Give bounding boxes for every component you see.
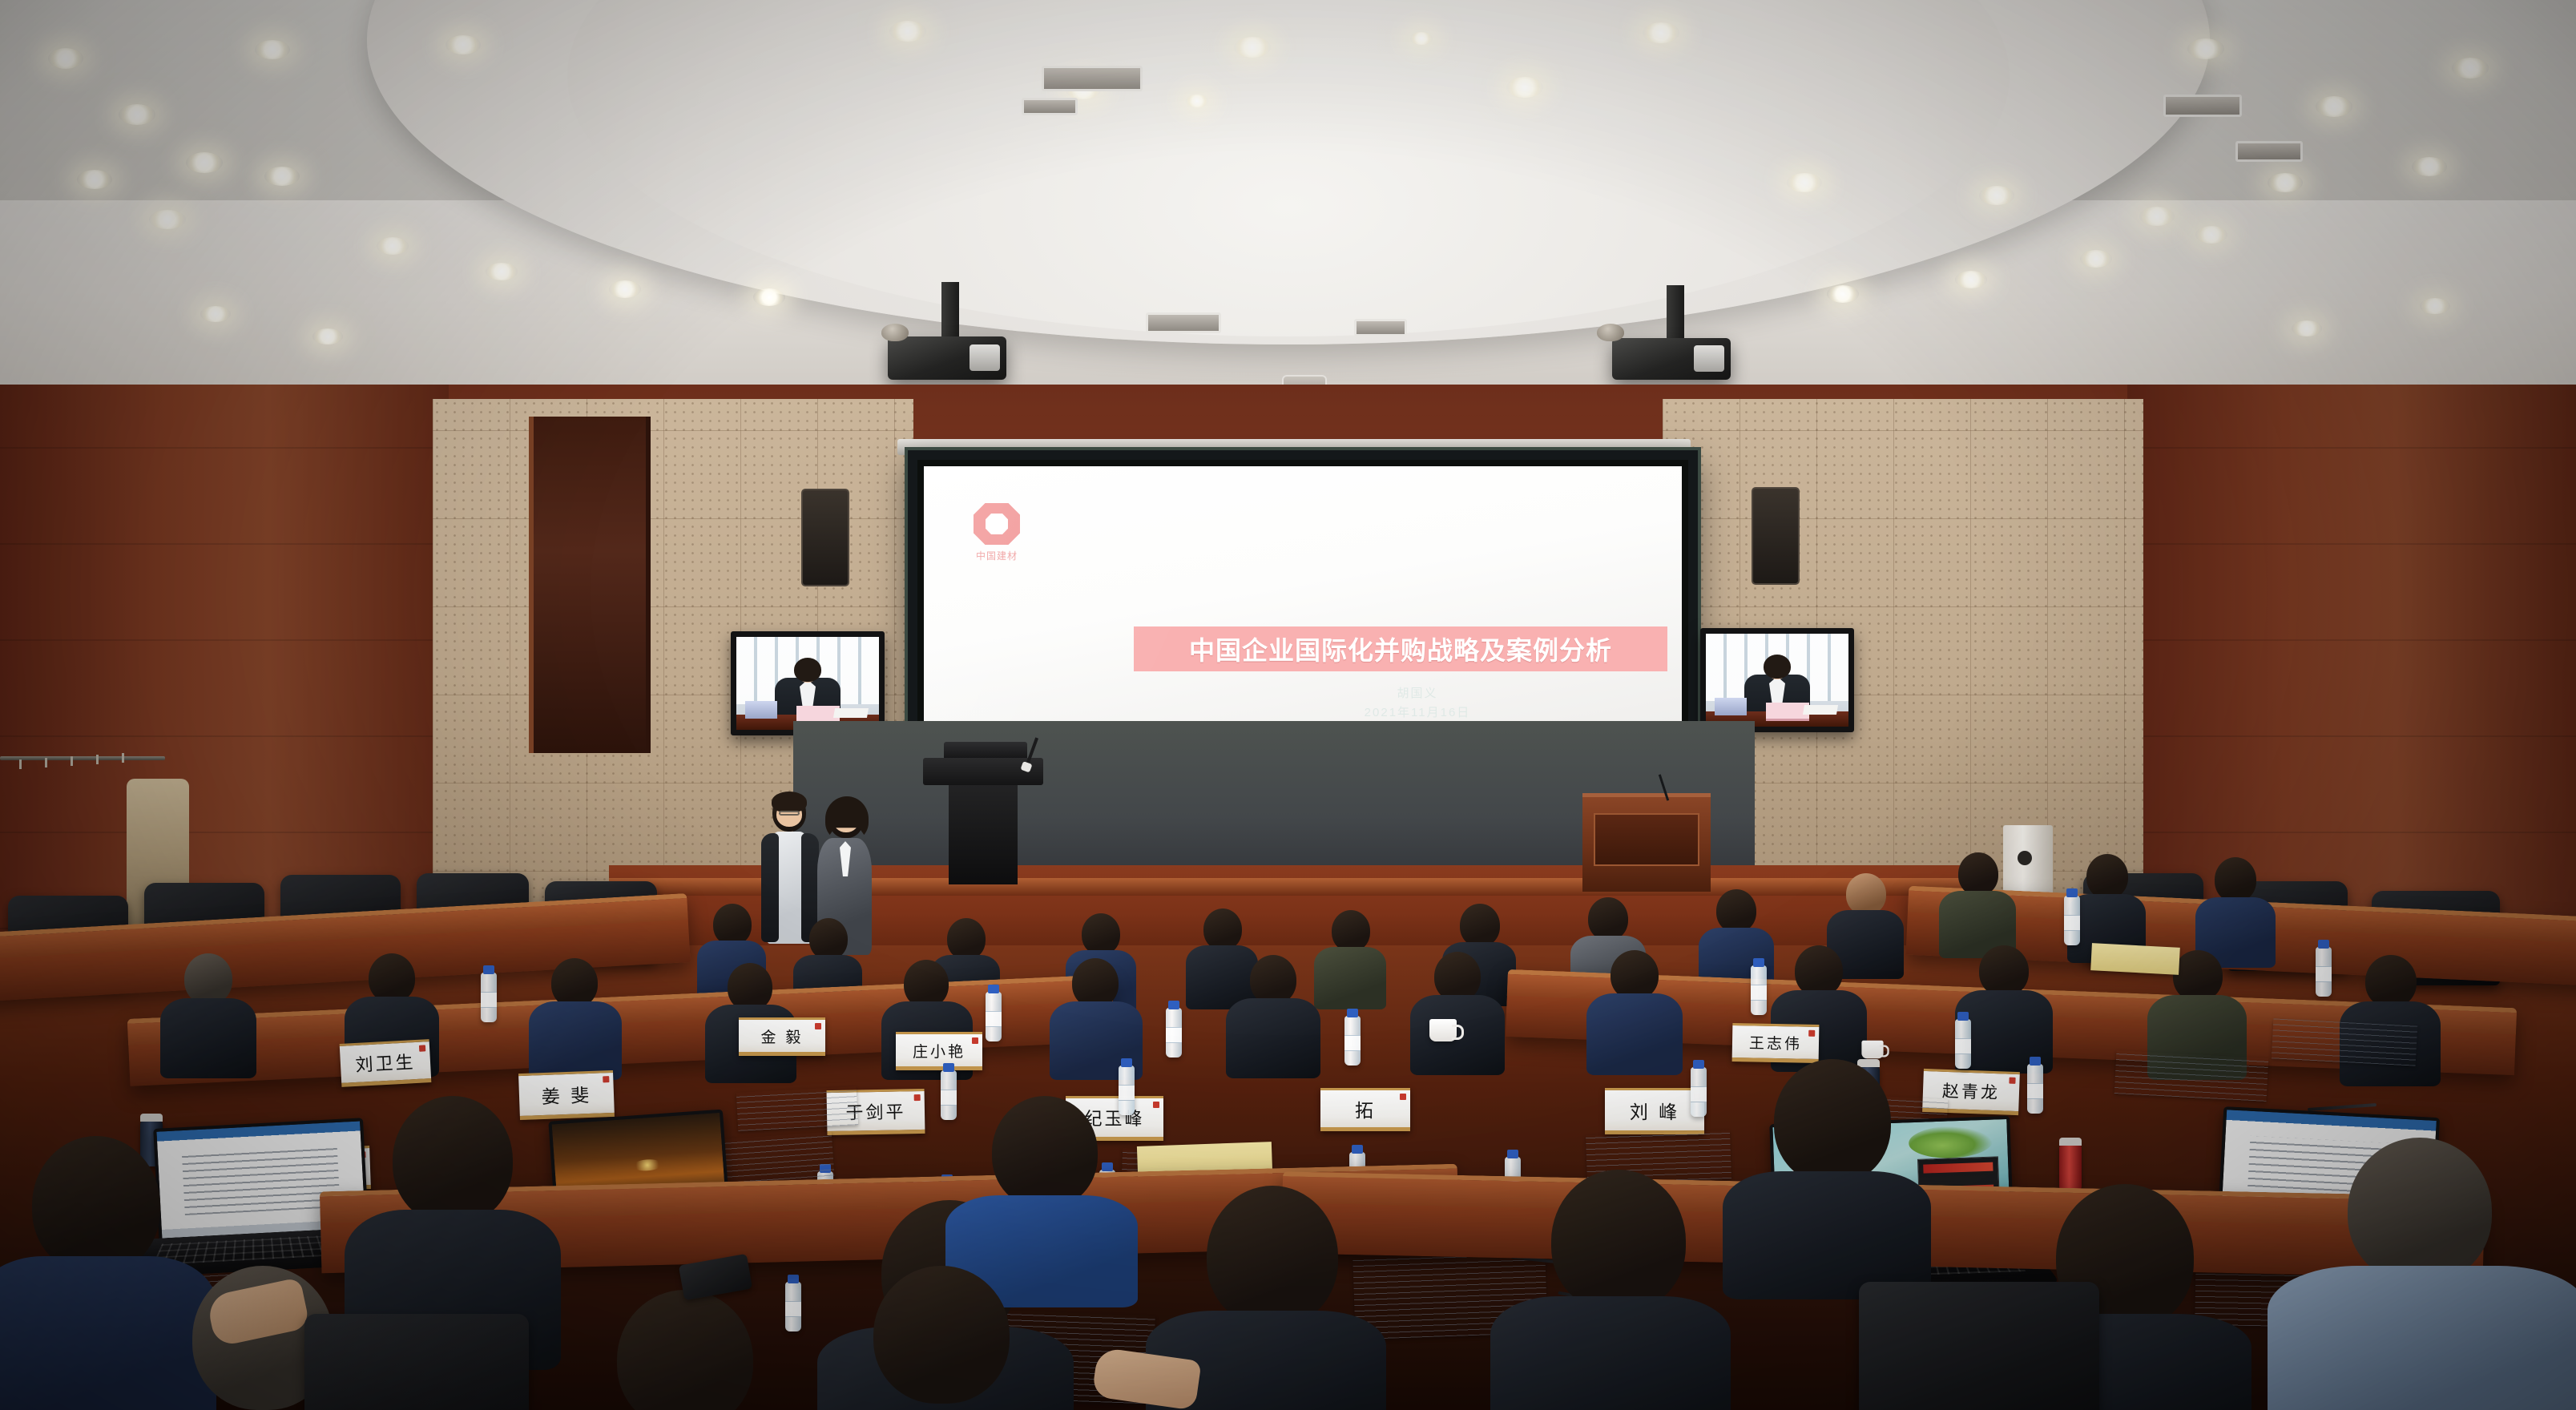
placard-text: 刘 峰 <box>1630 1097 1679 1124</box>
foreground-chair-back[interactable] <box>304 1314 529 1410</box>
person-head <box>1072 958 1119 1008</box>
left-side-monitor <box>731 631 885 735</box>
bottle-label <box>2027 1083 2043 1100</box>
bottle-label <box>1166 1027 1182 1044</box>
attendee <box>1410 952 1505 1072</box>
coat-hook-icon <box>45 758 47 767</box>
person-head <box>1082 913 1120 955</box>
projector-lens-icon <box>970 344 1000 371</box>
placard-seal-icon <box>2009 1078 2015 1084</box>
slide-title-band: 中国企业国际化并购战略及案例分析 <box>1134 626 1667 671</box>
downlight <box>377 237 409 255</box>
projector-right <box>1612 338 1731 380</box>
downlight <box>264 167 300 186</box>
person-head <box>2173 950 2223 1001</box>
person-head <box>873 1266 1010 1404</box>
air-vent <box>1022 98 1078 115</box>
bottle-label <box>481 992 497 1009</box>
person-head <box>1774 1059 1891 1184</box>
person-torso <box>1490 1296 1731 1410</box>
downlight <box>2139 207 2175 226</box>
cabinet-knob-icon <box>2018 851 2032 865</box>
bottle-label <box>1691 1086 1707 1103</box>
person-head <box>1795 945 1843 997</box>
bottle-label <box>2316 966 2332 983</box>
foreground-attendee <box>1723 1059 1931 1291</box>
placard-seal-icon <box>815 1023 821 1029</box>
downlight <box>1643 22 1679 43</box>
slide-date: 2021年11月16日 <box>1289 703 1546 720</box>
yellow-folder <box>2090 943 2180 975</box>
person-head <box>1588 897 1628 941</box>
speaker-lectern[interactable] <box>936 758 1030 884</box>
person-head <box>551 958 598 1008</box>
person-torso <box>1586 993 1683 1075</box>
placard-text: 拓 <box>1355 1095 1376 1122</box>
document-paper <box>2272 1018 2417 1066</box>
downlight <box>48 48 83 69</box>
downlight <box>149 210 186 229</box>
placard-seal-icon <box>603 1076 609 1082</box>
air-vent <box>2163 95 2242 117</box>
attendee <box>160 953 256 1074</box>
downlight <box>2292 320 2322 336</box>
stage-door[interactable] <box>529 417 651 753</box>
foreground-chair-back[interactable] <box>1859 1282 2099 1410</box>
coat-hook-icon <box>122 753 124 763</box>
right-monitor-feed <box>1706 634 1848 727</box>
person-head <box>393 1096 513 1224</box>
feed-person-head <box>794 658 821 682</box>
person-head <box>713 904 752 945</box>
placard-seal-icon <box>1808 1030 1815 1037</box>
person-head <box>2348 1138 2492 1283</box>
coat-hook-icon <box>96 755 99 764</box>
placard-jin-qi: 金 毅 <box>739 1017 825 1056</box>
feed-papers <box>1803 705 1838 715</box>
placard-text: 庄小艳 <box>913 1040 965 1062</box>
feed-equipment-box <box>1715 698 1747 715</box>
downlight <box>2195 226 2227 244</box>
coat-hook-icon <box>71 756 73 766</box>
downlight <box>200 306 231 322</box>
person-head <box>1207 1186 1338 1327</box>
downlight <box>1186 95 1208 107</box>
person-head <box>1203 908 1242 950</box>
downlight <box>889 21 926 42</box>
attendee <box>1226 955 1320 1075</box>
placard-text: 王志伟 <box>1749 1031 1802 1053</box>
placard-text: 刘卫生 <box>355 1048 417 1077</box>
projector-lens-icon <box>1694 345 1724 371</box>
water-bottle <box>1955 1019 1971 1069</box>
downlight <box>1955 271 1987 288</box>
air-vent <box>1042 66 1143 91</box>
glasses-icon <box>779 811 800 816</box>
coffee-mug <box>1861 1041 1883 1058</box>
downlight <box>2316 96 2352 117</box>
water-bottle <box>2064 896 2080 945</box>
downlight <box>1979 186 2014 205</box>
person-head <box>1332 910 1370 952</box>
placard-tuo: 拓 <box>1320 1088 1410 1131</box>
water-bottle <box>481 973 497 1022</box>
projector-left <box>888 336 1006 380</box>
sun-glow-icon <box>632 1158 663 1172</box>
person-torso <box>160 998 256 1078</box>
presentation-slide: 中国建材 中国企业国际化并购战略及案例分析 胡国义 2021年11月16日 <box>924 466 1682 735</box>
air-vent <box>1354 319 1407 336</box>
downlight <box>753 288 785 306</box>
coat-rack-bar <box>0 756 165 760</box>
downlight <box>1827 285 1859 303</box>
main-projection-screen: 中国建材 中国企业国际化并购战略及案例分析 胡国义 2021年11月16日 <box>908 450 1698 751</box>
downlight <box>186 152 223 173</box>
document-paper <box>736 1086 858 1131</box>
downlight <box>1410 32 1433 45</box>
person-torso <box>1226 998 1320 1078</box>
downlight <box>1234 37 1271 58</box>
bottle-label <box>2064 915 2080 932</box>
bottle-label <box>1751 985 1767 1001</box>
placard-xiaoyan: 庄小艳 <box>896 1032 982 1070</box>
coffee-mug <box>1429 1019 1457 1041</box>
side-podium <box>1582 793 1711 892</box>
downlight <box>119 104 155 125</box>
feed-papers <box>833 708 869 718</box>
lectern-body <box>949 785 1018 884</box>
smoke-detector-icon <box>1597 324 1624 341</box>
placard-text: 赵青龙 <box>1942 1078 2001 1104</box>
placard-seal-icon <box>972 1037 978 1044</box>
wall-speaker-left <box>801 489 849 586</box>
downlight <box>77 170 112 189</box>
company-logo-icon <box>974 503 1020 545</box>
downlight <box>2452 58 2489 79</box>
water-bottle <box>1691 1067 1707 1117</box>
person-torso <box>1723 1171 1931 1299</box>
coat-hook-icon <box>19 759 22 769</box>
attendee <box>529 958 622 1077</box>
bottle-label <box>986 1011 1002 1028</box>
person-head <box>617 1290 753 1410</box>
person-head <box>2365 955 2417 1008</box>
person-head <box>992 1096 1098 1208</box>
person-head <box>1434 952 1481 1001</box>
person-head <box>1979 945 2029 997</box>
foreground-attendee <box>1490 1170 1731 1410</box>
downlight <box>255 40 290 59</box>
attendee <box>1314 910 1386 1006</box>
person-head <box>2086 854 2128 899</box>
conference-room-photo: 中国建材 中国企业国际化并购战略及案例分析 胡国义 2021年11月16日 <box>0 0 2576 1410</box>
person-head <box>369 953 415 1003</box>
water-bottle <box>986 992 1002 1041</box>
person-torso <box>2268 1266 2576 1410</box>
placard-text: 金 毅 <box>760 1025 803 1047</box>
tumbler-cap <box>140 1114 163 1122</box>
placard-liu-weisheng: 刘卫生 <box>340 1039 432 1087</box>
person-head <box>1460 904 1500 947</box>
foreground-attendee <box>553 1290 817 1410</box>
air-vent <box>1146 312 1221 333</box>
foreground-attendee-light-shirt <box>2268 1138 2576 1410</box>
bottle-label <box>1344 1035 1361 1052</box>
left-monitor-feed <box>736 637 879 730</box>
downlight <box>445 35 481 54</box>
person-head <box>1716 889 1756 933</box>
slide-logo: 中国建材 <box>970 503 1023 562</box>
wall-speaker-right <box>1752 487 1800 585</box>
person-head <box>1611 950 1659 1000</box>
person-head <box>1250 955 1296 1005</box>
right-side-monitor <box>1700 628 1854 732</box>
person-torso <box>529 1001 622 1080</box>
downlight <box>2420 298 2450 314</box>
water-bottle <box>1751 965 1767 1015</box>
downlight <box>2080 250 2112 268</box>
person-head <box>728 963 772 1011</box>
placard-seal-icon <box>914 1094 921 1101</box>
attendee <box>1586 950 1683 1072</box>
water-bottle <box>1344 1016 1361 1066</box>
smoke-detector-icon <box>881 324 909 341</box>
attendee <box>1939 852 2016 957</box>
downlight <box>312 328 343 344</box>
foreground-attendee-notes <box>801 1266 1074 1410</box>
person-head <box>2215 857 2256 902</box>
tumbler-cap <box>2059 1138 2082 1146</box>
water-bottle <box>2027 1064 2043 1114</box>
downlight <box>2187 38 2224 59</box>
projector-mount <box>1667 285 1684 338</box>
placard-wang-zhiwei: 王志伟 <box>1732 1023 1820 1063</box>
water-bottle <box>2316 947 2332 997</box>
placard-liu-feng: 刘 峰 <box>1605 1088 1704 1134</box>
person-head <box>1551 1170 1686 1312</box>
feed-equipment-box <box>745 701 777 719</box>
person-torso <box>1314 947 1386 1009</box>
person-head <box>809 918 848 960</box>
downlight <box>1787 173 1822 192</box>
bottle-label <box>1955 1038 1971 1055</box>
person-head <box>947 918 986 960</box>
water-bottle <box>1166 1008 1182 1057</box>
slide-title: 中国企业国际化并购战略及案例分析 <box>1189 630 1612 667</box>
document-paper <box>2114 1050 2269 1102</box>
projector-mount <box>941 282 959 336</box>
downlight <box>486 263 518 280</box>
placard-seal-icon <box>419 1045 425 1051</box>
person-head <box>1958 852 1998 896</box>
air-vent <box>2235 141 2303 162</box>
slide-presenter: 胡国义 <box>1289 684 1546 701</box>
downlight <box>2268 173 2303 192</box>
person-head <box>904 960 949 1008</box>
popup-banner <box>1923 1162 1993 1173</box>
downlight <box>609 280 641 298</box>
slide-logo-text: 中国建材 <box>970 549 1023 562</box>
person-head <box>32 1136 160 1274</box>
person-hair <box>772 792 807 812</box>
downlight <box>2412 157 2447 176</box>
feed-person-head <box>1764 655 1791 679</box>
placard-seal-icon <box>1400 1094 1406 1100</box>
placard-seal-icon <box>1153 1102 1159 1108</box>
downlight <box>1506 77 1543 98</box>
person-head <box>184 953 232 1005</box>
person-head <box>1846 873 1886 915</box>
